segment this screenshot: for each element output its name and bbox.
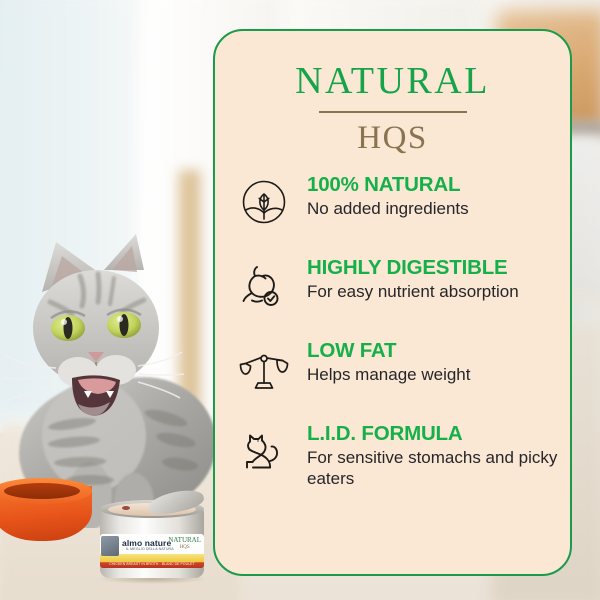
can-label-cat-photo [101,536,119,556]
card-header: NATURAL HQS [215,31,570,157]
orange-food-bowl [0,478,96,546]
feature-list: 100% NATURAL No added ingredients HIGHLY… [215,171,570,489]
can-badge: NATURAL HQS [168,537,201,551]
feature-desc: Helps manage weight [307,364,470,385]
stomach-check-icon [233,254,295,316]
product-can: almo nature IL MEGLIO DELLA NATURA NATUR… [96,494,208,580]
feature-text: HIGHLY DIGESTIBLE For easy nutrient abso… [295,254,519,302]
feature-text: 100% NATURAL No added ingredients [295,171,469,219]
can-badge-line2: HQS [168,544,201,551]
can-brand-tagline: IL MEGLIO DELLA NATURA [126,547,174,551]
feature-text: L.I.D. FORMULA For sensitive stomachs an… [295,420,558,489]
leaf-sprout-icon [233,171,295,233]
feature-item-digestible: HIGHLY DIGESTIBLE For easy nutrient abso… [233,254,558,316]
balance-scale-icon [233,337,295,399]
feature-title: 100% NATURAL [307,173,469,196]
can-label: almo nature IL MEGLIO DELLA NATURA NATUR… [100,534,204,568]
feature-item-lowfat: LOW FAT Helps manage weight [233,337,558,399]
bowl-inner [4,483,80,499]
cat-icon [233,420,295,482]
title-divider [319,111,467,113]
page-subtitle: HQS [215,119,570,157]
feature-title: HIGHLY DIGESTIBLE [307,256,519,279]
feature-desc: No added ingredients [307,198,469,219]
feature-text: LOW FAT Helps manage weight [295,337,470,385]
feature-title: L.I.D. FORMULA [307,422,558,445]
feature-title: LOW FAT [307,339,470,362]
info-card: NATURAL HQS 100% NATURAL No added ingred… [213,29,572,576]
can-flavor-band: CHICKEN BREAST IN BROTH - BLANC DE POULE… [100,561,204,568]
feature-desc: For easy nutrient absorption [307,281,519,302]
page-title: NATURAL [215,61,570,101]
feature-item-lid: L.I.D. FORMULA For sensitive stomachs an… [233,420,558,489]
feature-desc: For sensitive stomachs and picky eaters [307,447,558,489]
can-badge-line1: NATURAL [168,536,201,544]
feature-item-natural: 100% NATURAL No added ingredients [233,171,558,233]
